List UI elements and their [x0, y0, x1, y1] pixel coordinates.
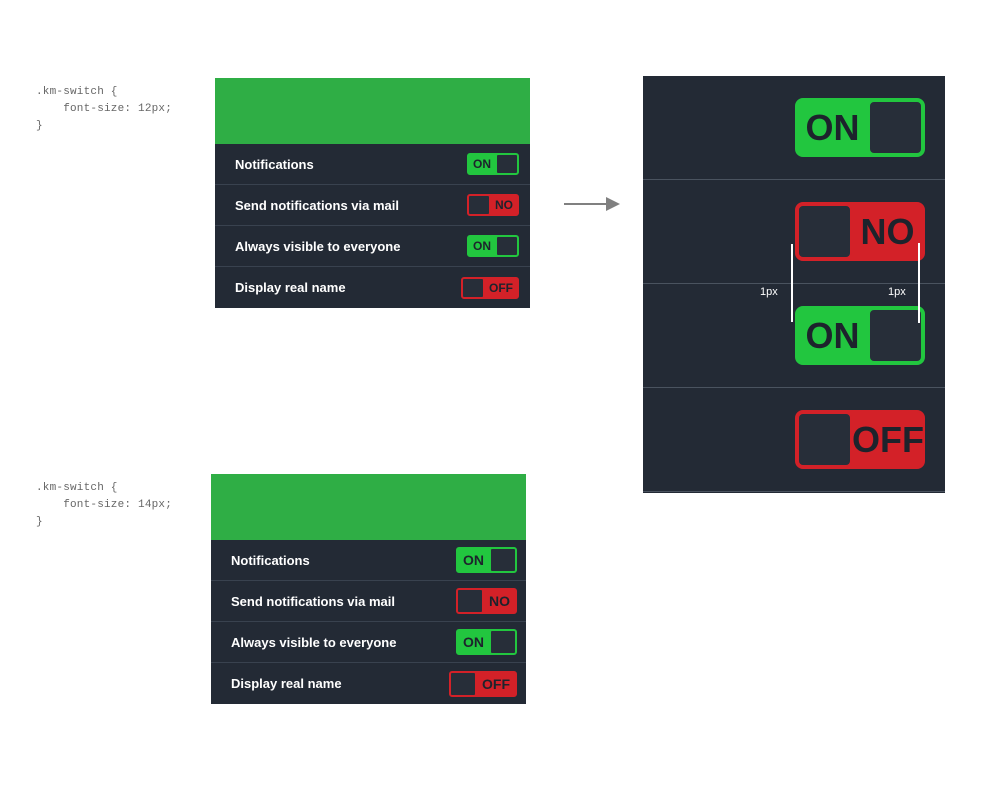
- magnified-row-no[interactable]: NO: [643, 180, 945, 284]
- magnified-toggle-label: ON: [797, 100, 868, 155]
- toggle-switch-knob[interactable]: [457, 589, 483, 613]
- toggle-switch-knob[interactable]: [496, 154, 518, 174]
- magnified-toggle-switch-on[interactable]: ON: [795, 98, 925, 157]
- settings-row-label: Always visible to everyone: [235, 239, 400, 254]
- settings-row-always-visible-to-everyone[interactable]: Always visible to everyone ON: [215, 226, 530, 267]
- magnified-toggle-label: ON: [797, 308, 868, 363]
- toggle-switch-notifications[interactable]: ON: [456, 547, 517, 573]
- settings-row-label: Notifications: [231, 553, 310, 568]
- settings-row-display-real-name[interactable]: Display real name OFF: [215, 267, 530, 308]
- measurement-label-right: 1px: [888, 286, 906, 298]
- toggle-switch-always-visible-to-everyone[interactable]: ON: [467, 235, 519, 257]
- toggle-switch-display-real-name[interactable]: OFF: [461, 277, 519, 299]
- settings-row-notifications[interactable]: Notifications ON: [211, 540, 526, 581]
- settings-row-label: Display real name: [235, 280, 346, 295]
- toggle-switch-label: NO: [483, 589, 516, 613]
- toggle-switch-label: OFF: [484, 278, 518, 298]
- toggle-switch-knob[interactable]: [462, 278, 484, 298]
- toggle-switch-knob[interactable]: [450, 672, 476, 696]
- settings-panel-12px: Notifications ON Send notifications via …: [215, 78, 530, 308]
- toggle-switch-label: ON: [457, 548, 490, 572]
- settings-row-label: Send notifications via mail: [235, 198, 399, 213]
- toggle-switch-display-real-name[interactable]: OFF: [449, 671, 517, 697]
- settings-row-label: Notifications: [235, 157, 314, 172]
- settings-row-label: Display real name: [231, 676, 342, 691]
- settings-row-label: Always visible to everyone: [231, 635, 396, 650]
- right-arrow-icon: [562, 192, 622, 216]
- settings-row-list: Notifications ON Send notifications via …: [215, 144, 530, 308]
- measurement-label-left: 1px: [760, 286, 778, 298]
- toggle-switch-label: ON: [468, 236, 496, 256]
- settings-row-send-notifications-via-mail[interactable]: Send notifications via mail NO: [211, 581, 526, 622]
- toggle-switch-always-visible-to-everyone[interactable]: ON: [456, 629, 517, 655]
- magnified-toggle-label: NO: [852, 204, 923, 259]
- settings-row-display-real-name[interactable]: Display real name OFF: [211, 663, 526, 704]
- magnified-toggle-knob[interactable]: [797, 412, 852, 467]
- magnified-toggle-switch-on-2[interactable]: ON: [795, 306, 925, 365]
- settings-panel-14px: Notifications ON Send notifications via …: [211, 474, 526, 704]
- toggle-switch-send-notifications-via-mail[interactable]: NO: [467, 194, 519, 216]
- panel-header: [215, 78, 530, 144]
- toggle-switch-label: NO: [490, 195, 518, 215]
- magnified-toggle-switch-off[interactable]: OFF: [795, 410, 925, 469]
- magnified-toggle-knob[interactable]: [868, 100, 923, 155]
- magnified-toggle-knob[interactable]: [868, 308, 923, 363]
- toggle-switch-knob[interactable]: [468, 195, 490, 215]
- code-snippet-14px: .km-switch { font-size: 14px; }: [36, 480, 172, 531]
- settings-row-list: Notifications ON Send notifications via …: [211, 540, 526, 704]
- settings-row-label: Send notifications via mail: [231, 594, 395, 609]
- measurement-line-left: [791, 244, 793, 322]
- settings-row-always-visible-to-everyone[interactable]: Always visible to everyone ON: [211, 622, 526, 663]
- toggle-switch-notifications[interactable]: ON: [467, 153, 519, 175]
- magnified-row-on-1[interactable]: ON: [643, 76, 945, 180]
- magnified-row-off[interactable]: OFF: [643, 388, 945, 492]
- measurement-line-right: [918, 243, 920, 323]
- toggle-switch-knob[interactable]: [490, 630, 516, 654]
- code-snippet-12px: .km-switch { font-size: 12px; }: [36, 84, 172, 135]
- magnified-toggle-knob[interactable]: [797, 204, 852, 259]
- settings-row-notifications[interactable]: Notifications ON: [215, 144, 530, 185]
- toggle-switch-label: ON: [468, 154, 496, 174]
- magnified-toggle-label: OFF: [852, 412, 924, 467]
- settings-row-send-notifications-via-mail[interactable]: Send notifications via mail NO: [215, 185, 530, 226]
- panel-header: [211, 474, 526, 540]
- toggle-switch-knob[interactable]: [496, 236, 518, 256]
- toggle-switch-label: ON: [457, 630, 490, 654]
- magnified-switch-detail-panel: ON NO ON OFF 1px 1px: [643, 76, 945, 493]
- magnified-row-on-2[interactable]: ON: [643, 284, 945, 388]
- toggle-switch-send-notifications-via-mail[interactable]: NO: [456, 588, 517, 614]
- magnified-toggle-switch-no[interactable]: NO: [795, 202, 925, 261]
- toggle-switch-label: OFF: [476, 672, 516, 696]
- toggle-switch-knob[interactable]: [490, 548, 516, 572]
